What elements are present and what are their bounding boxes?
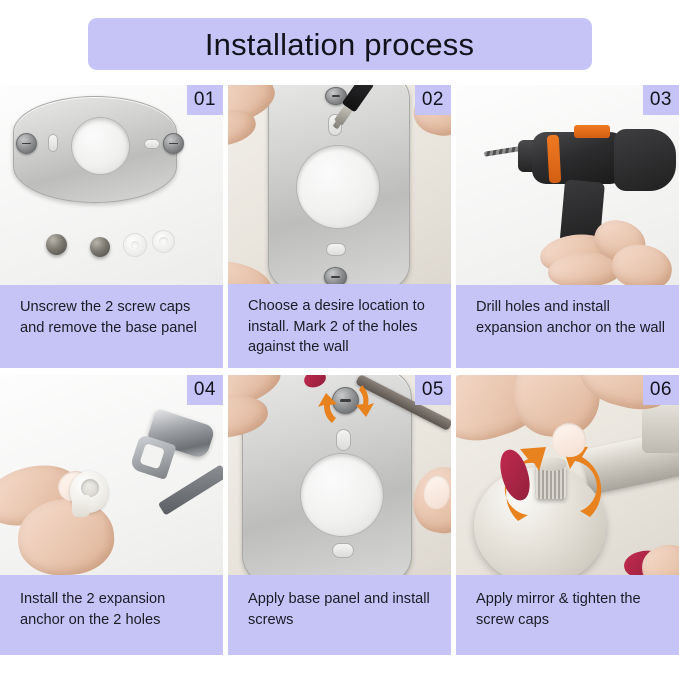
step-card-01: 01 Unscrew the 2 screw caps and remove t… bbox=[0, 85, 223, 368]
step-card-05: 05 Apply base panel and install screws bbox=[228, 375, 451, 655]
step-number-badge-02: 02 bbox=[415, 85, 451, 115]
step-caption-05: Apply base panel and install screws bbox=[228, 575, 451, 655]
step-caption-06: Apply mirror & tighten the screw caps bbox=[456, 575, 679, 655]
title-banner: Installation process bbox=[88, 18, 592, 70]
installation-infographic: Installation process bbox=[0, 0, 679, 679]
step-photo-04: 04 bbox=[0, 375, 223, 575]
step-card-04: 04 Install the 2 expansion anchor on the… bbox=[0, 375, 223, 655]
step-caption-02: Choose a desire location to install. Mar… bbox=[228, 284, 451, 368]
step-number-badge-05: 05 bbox=[415, 375, 451, 405]
rotation-arrow-icon bbox=[316, 377, 378, 433]
step-number-badge-04: 04 bbox=[187, 375, 223, 405]
step-number-badge-01: 01 bbox=[187, 85, 223, 115]
step-caption-04: Install the 2 expansion anchor on the 2 … bbox=[0, 575, 223, 655]
title-banner-wrap: Installation process bbox=[0, 18, 679, 70]
step-number-badge-03: 03 bbox=[643, 85, 679, 115]
step-photo-01: 01 bbox=[0, 85, 223, 285]
step-photo-05: 05 bbox=[228, 375, 451, 575]
step-number-badge-06: 06 bbox=[643, 375, 679, 405]
step-photo-03: 03 bbox=[456, 85, 679, 285]
step-photo-02: 02 bbox=[228, 85, 451, 284]
step-caption-01: Unscrew the 2 screw caps and remove the … bbox=[0, 285, 223, 368]
step-card-02: 02 Choose a desire location to install. … bbox=[228, 85, 451, 368]
step-caption-03: Drill holes and install expansion anchor… bbox=[456, 285, 679, 368]
step-photo-06: 06 bbox=[456, 375, 679, 575]
page-title: Installation process bbox=[205, 29, 474, 60]
step-card-03: 03 Drill holes and install expansion anc… bbox=[456, 85, 679, 368]
steps-grid: 01 Unscrew the 2 screw caps and remove t… bbox=[0, 85, 679, 655]
step-card-06: 06 Apply mirror & tighten the screw caps bbox=[456, 375, 679, 655]
